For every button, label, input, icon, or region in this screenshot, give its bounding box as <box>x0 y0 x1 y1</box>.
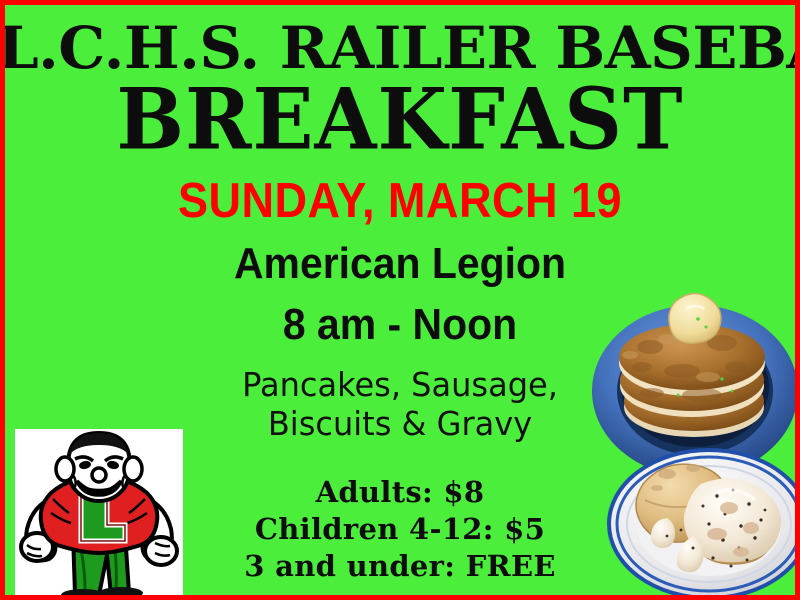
mascot-illustration <box>15 429 183 600</box>
biscuits-illustration <box>605 448 800 600</box>
biscuits-and-gravy-photo <box>605 448 800 600</box>
event-date: SUNDAY, MARCH 19 <box>37 177 764 226</box>
railer-mascot-logo <box>15 429 183 600</box>
page-title: L.C.H.S. RAILER BASEBALL <box>0 19 800 77</box>
headline-breakfast: BREAKFAST <box>5 77 795 161</box>
butter-pat <box>669 293 721 343</box>
event-poster: L.C.H.S. RAILER BASEBALL BREAKFAST SUNDA… <box>0 0 800 600</box>
event-venue: American Legion <box>33 242 768 286</box>
